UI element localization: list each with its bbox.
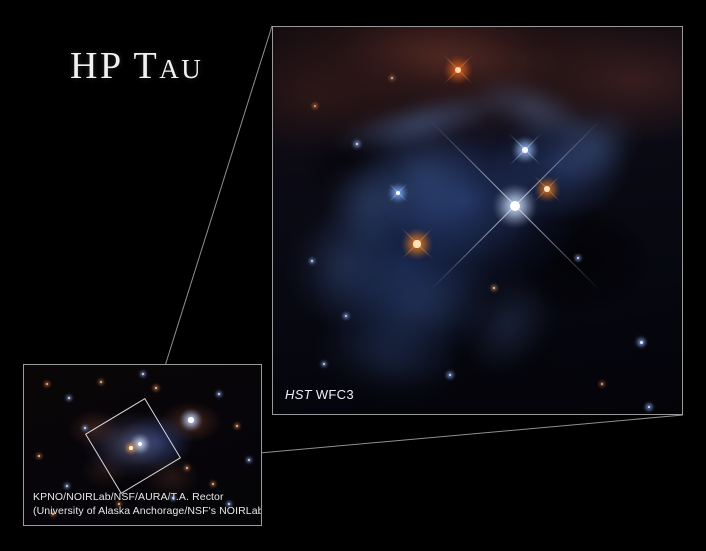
faint-star-right-upper (640, 341, 643, 344)
wisp-upper-arc (324, 77, 519, 168)
faint-star-center-low (493, 287, 495, 289)
inset-star-d (155, 387, 157, 389)
orange-star-left-mid (413, 240, 420, 247)
inset-star-g-glow (244, 455, 254, 465)
faint-star-bottom-right (601, 383, 603, 385)
screenshot-stage: HP Tau HST WFC3 KPNO/NOIRLab/NSF/AURA/T.… (0, 0, 706, 551)
inset-core-star (138, 442, 143, 447)
bright-central-star-spike-1 (430, 121, 601, 292)
bright-central-star (510, 201, 520, 211)
image-credit-line-2: (University of Alaska Anchorage/NSF's NO… (33, 505, 262, 519)
blue-star-left-spike-1 (388, 183, 407, 202)
blue-star-left (396, 191, 401, 196)
inset-star-l-glow (34, 451, 44, 461)
blue-star-left-spike-2 (388, 183, 407, 202)
inset-star-a-glow (42, 379, 52, 389)
orange-star-top-right-glow (443, 55, 474, 86)
wisp-lower-right-edge (444, 258, 572, 394)
faint-star-mid-left-glow (307, 256, 317, 266)
faint-star-right-lower (648, 406, 651, 409)
faint-star-lower-mid (449, 374, 452, 377)
inset-star-c-glow (96, 377, 106, 387)
wisp-right-hook (533, 87, 654, 204)
wisp-center-ridge (341, 95, 503, 257)
faint-star-top-left-glow (310, 101, 321, 112)
wisp-lower-center (346, 245, 498, 360)
white-star-upper-mid-glow (511, 136, 540, 165)
white-star-upper-mid (522, 147, 528, 153)
inset-star-b-glow (64, 393, 74, 403)
white-star-upper-mid-spike-1 (509, 134, 541, 166)
inset-core-star-2-glow (124, 441, 138, 455)
faint-star-lower-left-glow (341, 311, 352, 322)
hst-panel-inner (273, 27, 682, 414)
faint-star-top-mid (391, 77, 393, 79)
faint-star-bottom-right-glow (597, 379, 607, 389)
faint-star-top-mid-glow (387, 73, 397, 83)
inset-star-p (142, 373, 144, 375)
instrument-label-telescope: HST (285, 387, 312, 402)
page-title: HP Tau (70, 44, 203, 88)
inset-star-h (212, 483, 214, 485)
inset-star-k-glow (62, 481, 72, 491)
orange-star-central-right-glow (534, 176, 561, 203)
inset-star-e-glow (214, 389, 224, 399)
faint-star-mid-left (311, 260, 313, 262)
faint-star-upper-left-mid-glow (351, 138, 363, 150)
white-star-upper-mid-spike-2 (509, 134, 541, 166)
inset-core-star-glow (129, 433, 151, 455)
orange-star-central-right (544, 186, 550, 192)
inset-star-k (66, 485, 68, 487)
orange-star-top-right (455, 67, 462, 74)
inset-star-b (68, 397, 70, 399)
inset-bright-star-right (188, 417, 193, 422)
instrument-label-camera: WFC3 (316, 387, 354, 402)
inset-bright-star-right-glow (179, 408, 202, 431)
image-credit: KPNO/NOIRLab/NSF/AURA/T.A. Rector (Unive… (33, 491, 262, 518)
inset-star-g (248, 459, 250, 461)
inset-star-e (218, 393, 220, 395)
inset-star-d-glow (151, 383, 162, 394)
faint-star-bottom-left-glow (319, 359, 329, 369)
orange-star-left-mid-spike-2 (401, 228, 433, 260)
inset-core-star-2 (129, 446, 132, 449)
faint-star-right-lower-glow (643, 401, 656, 414)
inset-star-c (100, 381, 102, 383)
orange-star-central-right-spike-1 (534, 176, 560, 202)
orange-star-left-mid-glow (401, 228, 433, 260)
faint-star-center-low-glow (489, 283, 500, 294)
orange-star-top-right-spike-2 (443, 55, 472, 84)
wisp-lower-left-plume (276, 194, 412, 337)
faint-star-lower-left (345, 315, 347, 317)
faint-star-right-upper-glow (634, 335, 648, 349)
hst-detail-panel[interactable]: HST WFC3 (272, 26, 683, 415)
wide-field-inset-panel[interactable]: KPNO/NOIRLab/NSF/AURA/T.A. Rector (Unive… (23, 364, 262, 526)
bright-central-star-glow (492, 183, 539, 230)
wisp-top-dust (340, 27, 565, 95)
faint-star-lower-mid-glow (444, 369, 456, 381)
orange-star-top-right-spike-1 (443, 55, 472, 84)
inset-star-h-glow (208, 479, 218, 489)
inset-star-n-glow (182, 463, 192, 473)
faint-star-top-left (314, 105, 316, 107)
faint-star-upper-left-mid (356, 143, 359, 146)
faint-star-bottom-left (323, 363, 325, 365)
wisp-left-loop (312, 143, 424, 262)
bright-central-star-spike-2 (430, 121, 601, 292)
inset-star-m-glow (80, 423, 90, 433)
inset-star-p-glow (138, 369, 148, 379)
orange-star-central-right-spike-2 (534, 176, 560, 202)
image-credit-line-1: KPNO/NOIRLab/NSF/AURA/T.A. Rector (33, 491, 262, 505)
inset-star-f (236, 425, 238, 427)
inset-star-f-glow (232, 421, 242, 431)
inset-star-m (84, 427, 86, 429)
instrument-label: HST WFC3 (285, 387, 354, 402)
inset-star-a (46, 383, 48, 385)
faint-star-mid-right-glow (573, 253, 584, 264)
blue-star-left-glow (387, 182, 409, 204)
hst-nebula-image (273, 27, 682, 414)
orange-star-left-mid-spike-1 (401, 228, 433, 260)
faint-star-mid-right (577, 257, 579, 259)
wisp-upper-right-curl (464, 61, 605, 160)
inset-star-l (38, 455, 40, 457)
inset-star-n (186, 467, 188, 469)
